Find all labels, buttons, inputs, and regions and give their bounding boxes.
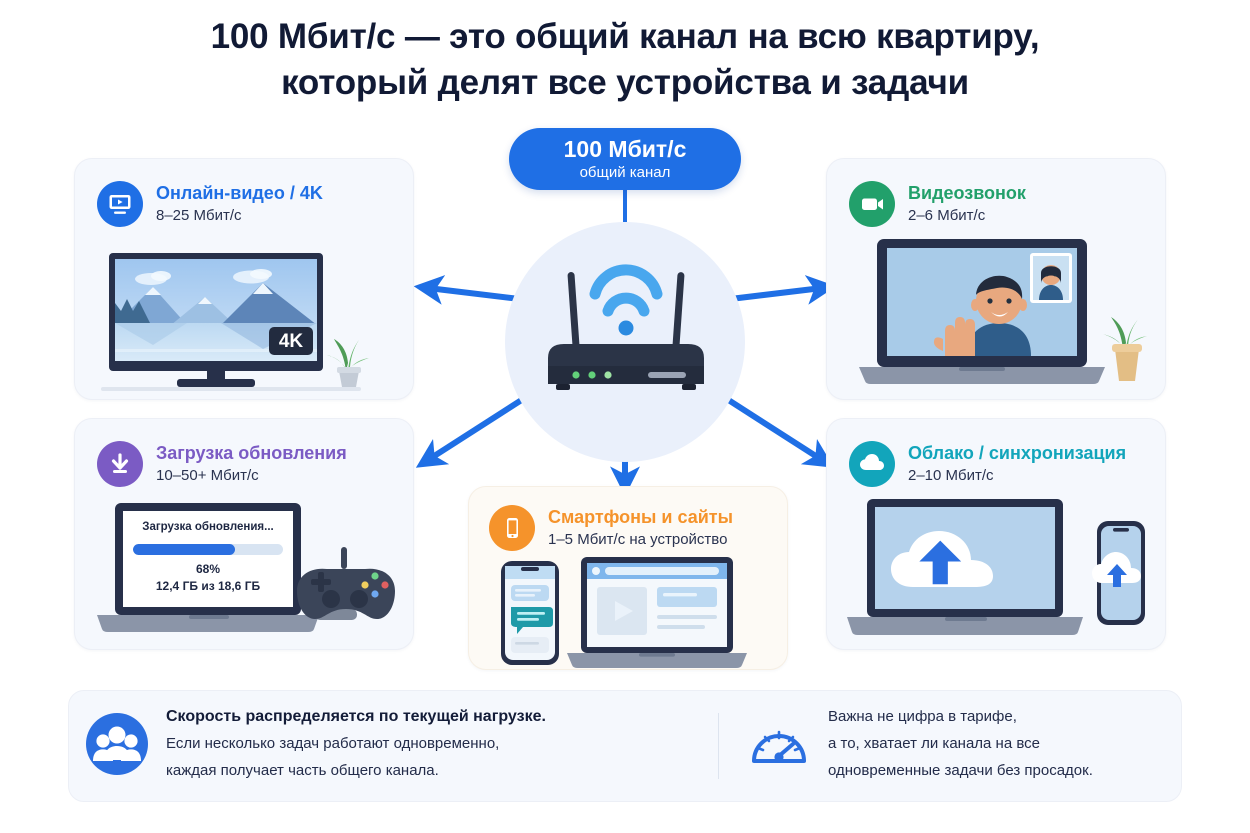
footer-left-line-1: Если несколько задач работают одновремен… <box>166 730 546 757</box>
footer-divider <box>718 713 719 779</box>
card-speed: 10–50+ Мбит/с <box>156 466 347 486</box>
tv-4k-badge: 4K <box>279 331 304 352</box>
smartphone-icon <box>489 505 535 551</box>
hub-speed-value: 100 Мбит/с <box>564 137 687 162</box>
footer-left-line-2: каждая получает часть общего канала. <box>166 757 546 784</box>
card-title: Загрузка обновления <box>156 442 347 464</box>
play-video-icon <box>97 181 143 227</box>
card-speed: 8–25 Мбит/с <box>156 206 323 226</box>
speedometer-icon <box>748 713 810 775</box>
progress-bar-fill <box>133 544 235 555</box>
card-title: Облако / синхронизация <box>908 442 1126 464</box>
infographic-canvas: 100 Мбит/с — это общий канал на всю квар… <box>0 0 1250 833</box>
cloud-sync-illustration <box>841 499 1151 649</box>
footer-right-line-2: а то, хватает ли канала на все <box>828 730 1093 757</box>
video-call-illustration <box>849 239 1149 391</box>
footer-left-heading: Скорость распределяется по текущей нагру… <box>166 703 546 730</box>
footer-right-line-1: Важна не цифра в тарифе, <box>828 703 1093 730</box>
download-arrow-icon <box>97 441 143 487</box>
card-speed: 2–10 Мбит/с <box>908 466 1126 486</box>
card-title: Онлайн-видео / 4K <box>156 182 323 204</box>
card-cloud-sync[interactable]: Облако / синхронизация 2–10 Мбит/с <box>826 418 1166 650</box>
hub-stem <box>623 190 627 222</box>
people-group-icon <box>86 713 148 775</box>
footer-right-block: Важна не цифра в тарифе, а то, хватает л… <box>748 703 1093 784</box>
card-phones-sites[interactable]: Смартфоны и сайты 1–5 Мбит/с на устройст… <box>468 486 788 670</box>
progress-size: 12,4 ГБ из 18,6 ГБ <box>123 578 293 595</box>
progress-caption: Загрузка обновления... <box>123 519 293 535</box>
footer-right-line-3: одновременные задачи без просадок. <box>828 757 1093 784</box>
card-title: Видеозвонок <box>908 182 1026 204</box>
tv-illustration: 4K <box>101 253 391 393</box>
gamepad-icon <box>287 547 409 650</box>
card-title: Смартфоны и сайты <box>548 506 733 528</box>
progress-percent: 68% <box>123 560 293 578</box>
cloud-icon <box>849 441 895 487</box>
card-online-video[interactable]: Онлайн-видео / 4K 8–25 Мбит/с <box>74 158 414 400</box>
video-camera-icon <box>849 181 895 227</box>
card-speed: 1–5 Мбит/с на устройство <box>548 530 733 550</box>
phone-website-illustration <box>497 557 767 669</box>
hub-speed-badge: 100 Мбит/с общий канал <box>509 128 741 190</box>
footer-left-block: Скорость распределяется по текущей нагру… <box>86 703 546 784</box>
download-progress-panel: Загрузка обновления... 68% 12,4 ГБ из 18… <box>123 519 293 595</box>
card-download-update[interactable]: Загрузка обновления 10–50+ Мбит/с Загруз… <box>74 418 414 650</box>
card-video-call[interactable]: Видеозвонок 2–6 Мбит/с <box>826 158 1166 400</box>
hub-speed-label: общий канал <box>580 163 671 182</box>
progress-bar-track <box>133 544 283 555</box>
card-speed: 2–6 Мбит/с <box>908 206 1026 226</box>
wifi-router-icon <box>520 250 732 400</box>
